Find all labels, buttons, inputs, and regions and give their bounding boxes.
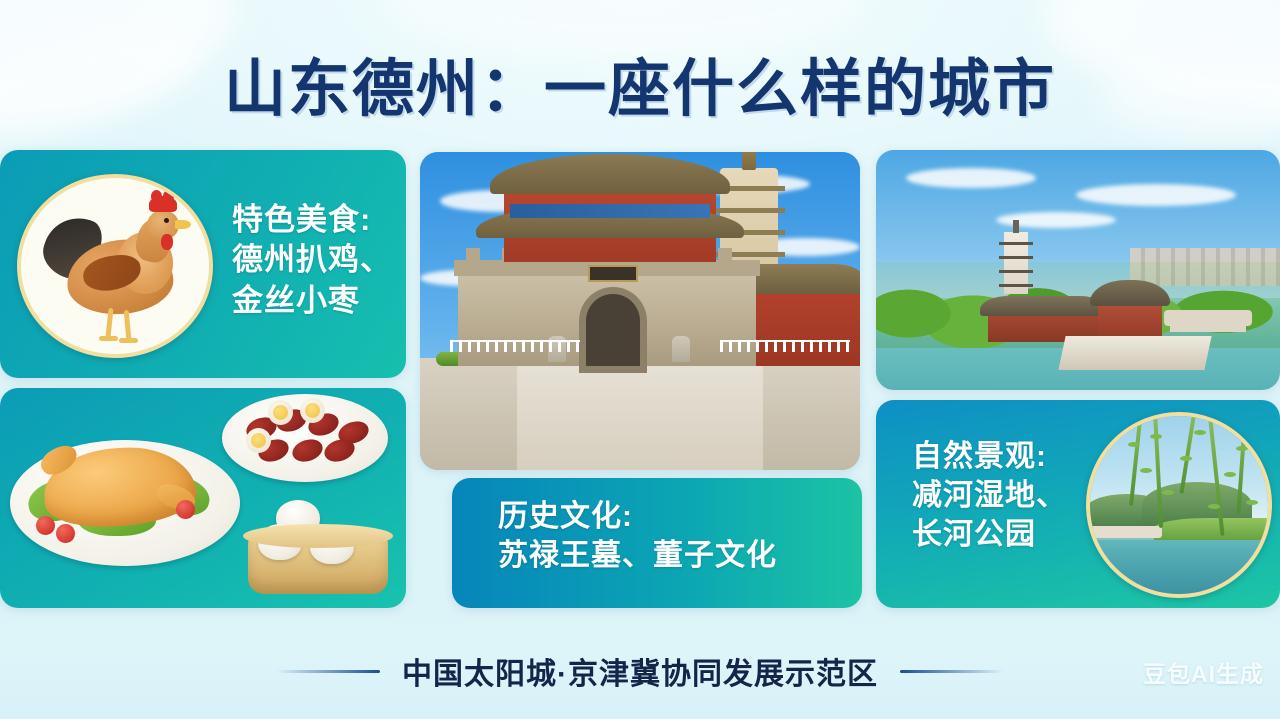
footer-divider-left bbox=[276, 670, 380, 673]
card-nature-photo[interactable] bbox=[876, 150, 1280, 390]
chicken-beak bbox=[175, 220, 191, 229]
bamboo-steamer bbox=[248, 500, 388, 594]
gate-tower-frieze bbox=[510, 204, 710, 218]
chicken-wattle bbox=[161, 234, 173, 250]
chicken-leg bbox=[124, 310, 132, 340]
card-history-photo[interactable] bbox=[420, 152, 860, 470]
lake-water bbox=[1090, 540, 1268, 594]
pagoda-eave bbox=[713, 208, 785, 213]
arch-bridge bbox=[1164, 310, 1252, 326]
willow-lake-photo bbox=[1086, 412, 1272, 598]
card-food-label: 特色美食: 德州扒鸡、 金丝小枣 bbox=[232, 200, 392, 321]
cloud-decoration bbox=[906, 168, 1036, 188]
card-history-label: 历史文化: 苏禄王墓、董子文化 bbox=[498, 497, 777, 575]
boiled-egg bbox=[300, 398, 325, 423]
chicken-foot bbox=[119, 338, 138, 343]
page-title: 山东德州：一座什么样的城市 bbox=[0, 38, 1280, 128]
chicken-eye bbox=[164, 218, 169, 223]
gate-archway bbox=[586, 294, 640, 366]
steamer-rim bbox=[243, 524, 393, 548]
ai-watermark: 豆包AI生成 bbox=[1143, 655, 1264, 689]
cloud-decoration bbox=[1076, 184, 1236, 206]
pagoda-eave bbox=[999, 270, 1033, 273]
footer-text: 中国太阳城·京津冀协同发展示范区 bbox=[402, 649, 878, 693]
stone-lion bbox=[672, 336, 690, 362]
cherry-tomato bbox=[176, 500, 195, 519]
park-pagoda bbox=[1004, 232, 1028, 294]
boiled-egg bbox=[268, 400, 293, 425]
cherry-tomato bbox=[36, 516, 55, 535]
footer-divider-right bbox=[900, 670, 1004, 673]
stone-bridge bbox=[1086, 526, 1162, 538]
battlement bbox=[718, 248, 732, 260]
pagoda-eave bbox=[999, 242, 1033, 245]
battlement bbox=[466, 248, 480, 260]
cherry-tomato bbox=[56, 524, 75, 543]
chicken-comb bbox=[149, 196, 177, 212]
chicken-foot bbox=[99, 336, 118, 341]
riverside-hall-roof bbox=[980, 296, 1108, 316]
gate-plaque bbox=[588, 265, 638, 282]
card-nature-label: 自然景观: 减河湿地、 长河公园 bbox=[912, 437, 1067, 554]
plaza-ground bbox=[420, 358, 860, 470]
pagoda-eave bbox=[999, 284, 1033, 287]
white-fence bbox=[450, 340, 580, 352]
boiled-egg bbox=[246, 428, 271, 453]
stone-deck bbox=[1058, 336, 1211, 370]
chicken-illustration bbox=[17, 174, 213, 358]
card-food-photo[interactable] bbox=[0, 388, 406, 608]
pagoda-eave bbox=[999, 256, 1033, 259]
footer: 中国太阳城·京津冀协同发展示范区 bbox=[0, 649, 1280, 693]
white-fence bbox=[720, 340, 850, 352]
